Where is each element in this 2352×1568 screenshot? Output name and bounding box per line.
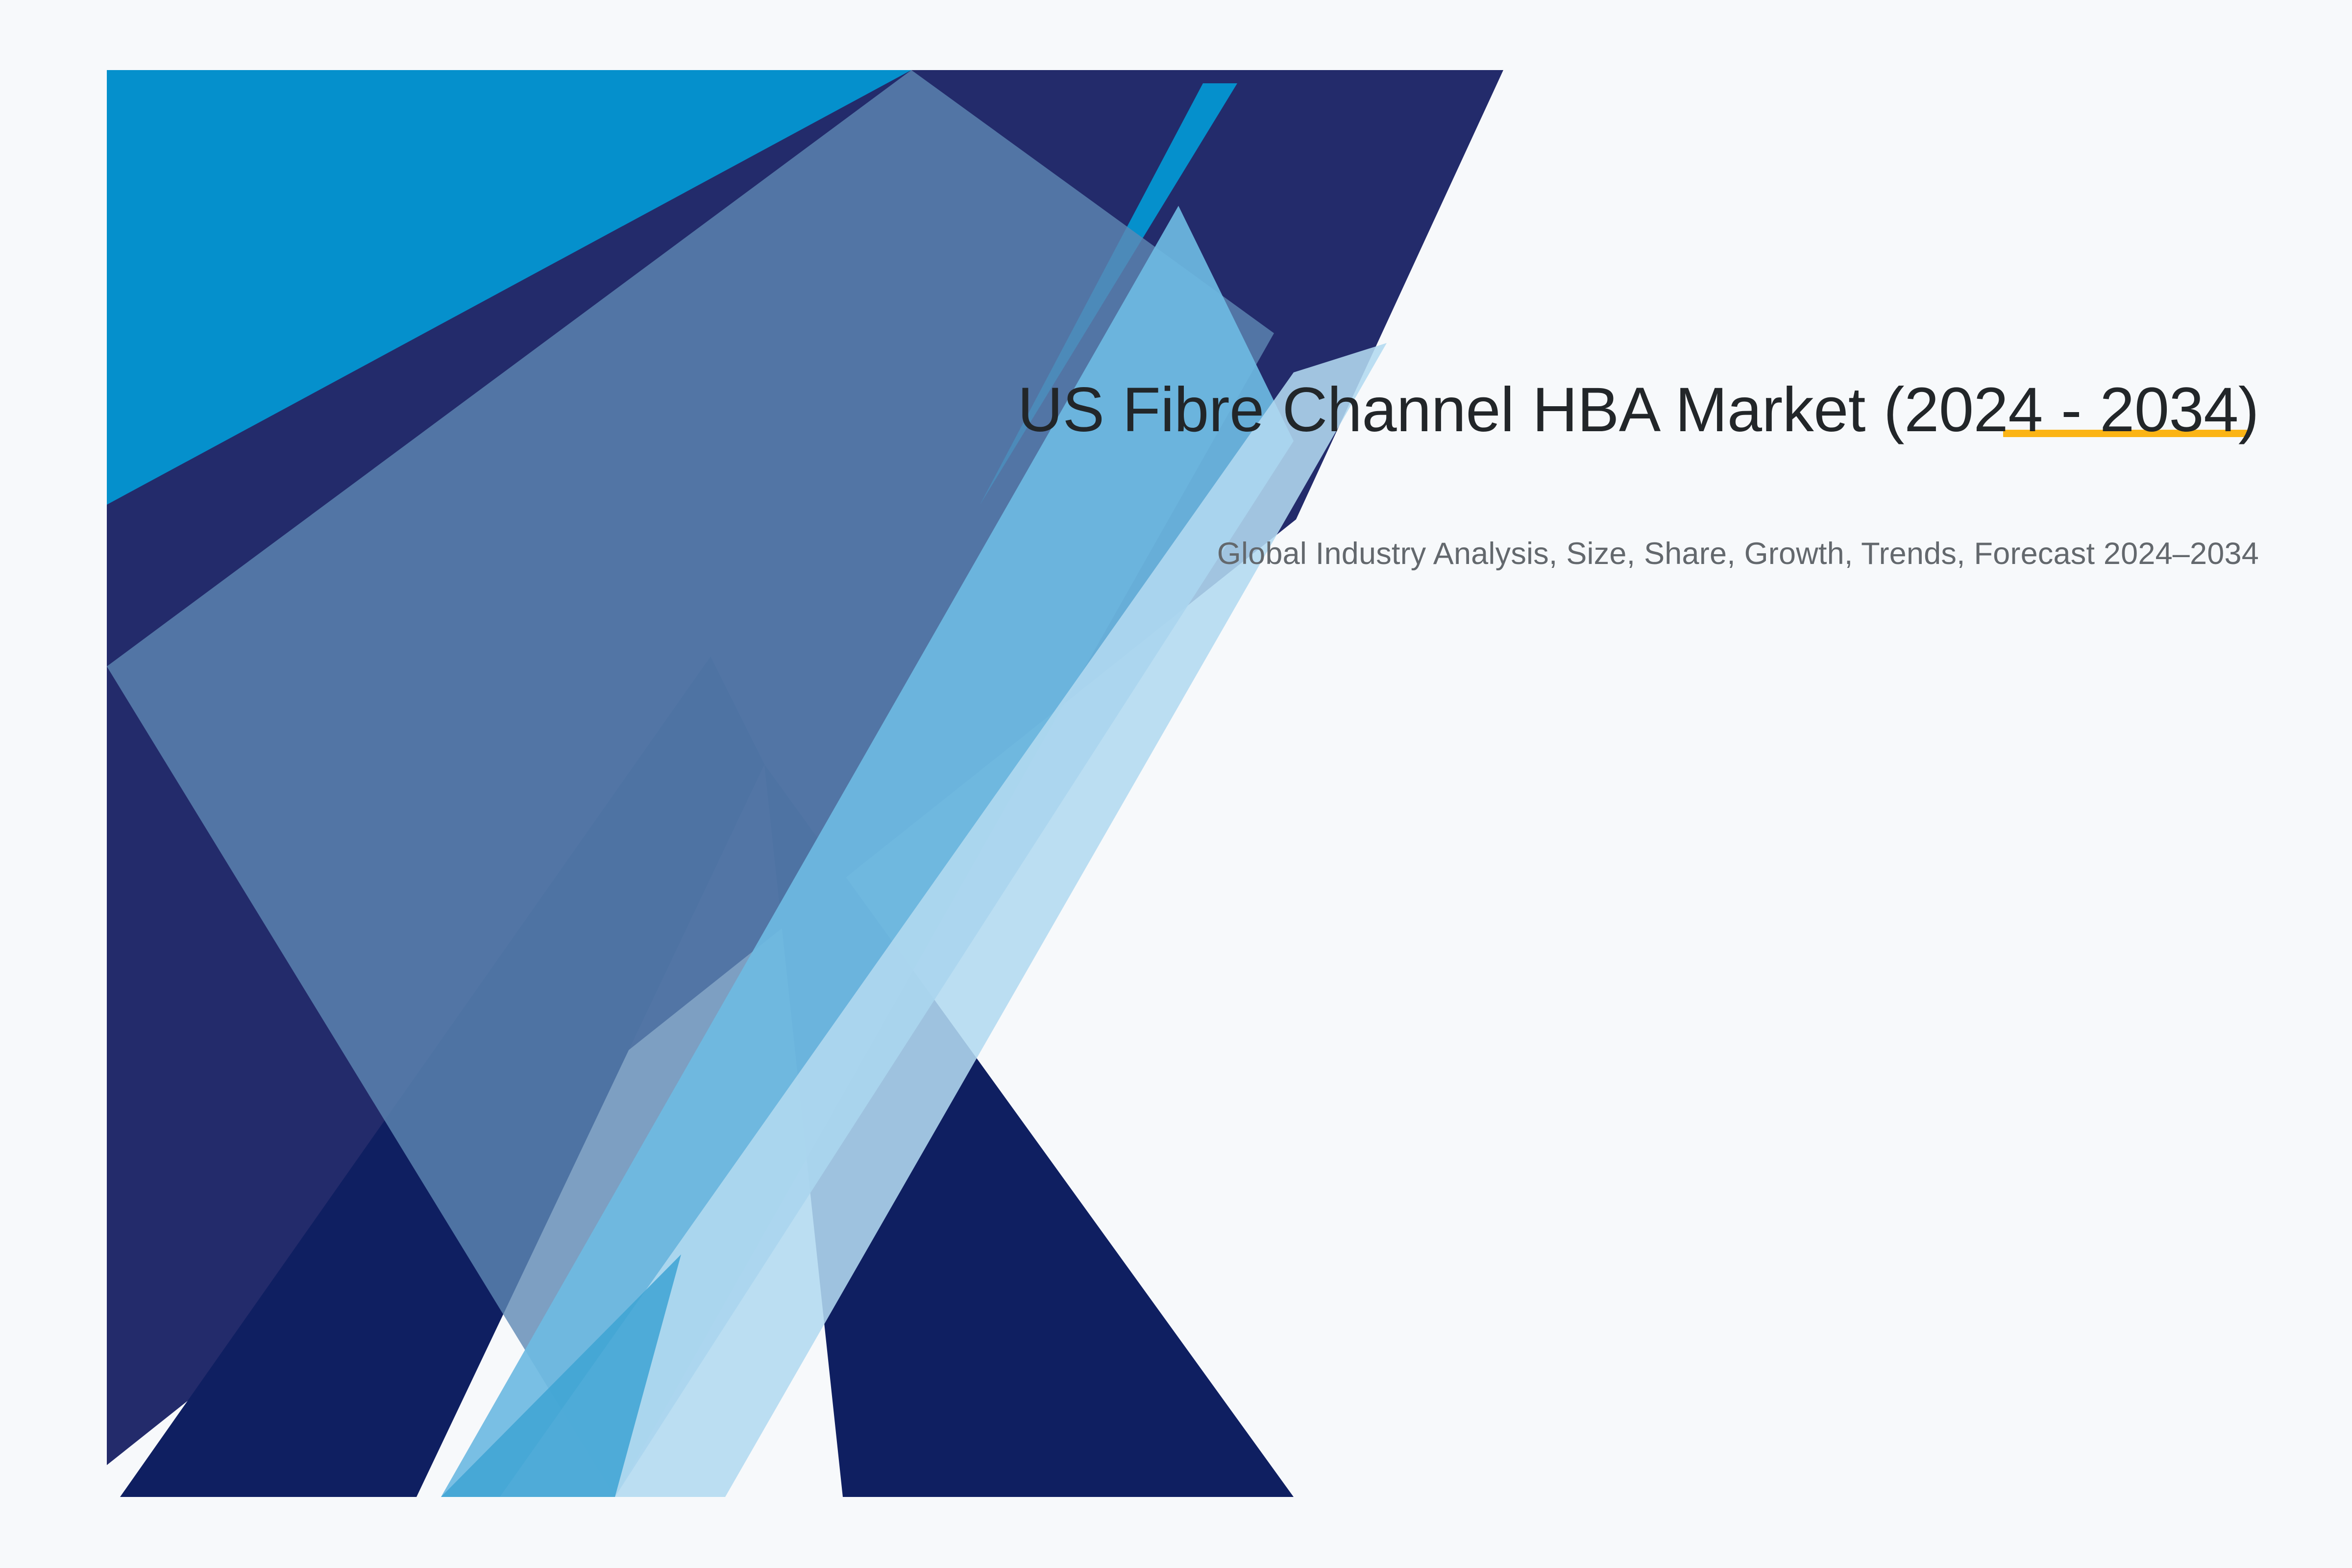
deep-navy-right-wedge xyxy=(764,764,1294,1497)
navy-upper-right-field xyxy=(107,70,1503,1465)
cover-text-block: US Fibre Channel HBA Market (2024 - 2034… xyxy=(735,372,2259,574)
slate-blue-panel xyxy=(107,70,1274,1497)
mid-blue-lower-sliver xyxy=(441,1254,681,1497)
deep-navy-wedge xyxy=(120,657,764,1497)
abstract-polygon-graphic xyxy=(0,0,2352,1568)
page-subtitle: Global Industry Analysis, Size, Share, G… xyxy=(735,534,2259,574)
report-cover: US Fibre Channel HBA Market (2024 - 2034… xyxy=(0,0,2352,1568)
page-title: US Fibre Channel HBA Market (2024 - 2034… xyxy=(735,372,2259,448)
title-wrap: US Fibre Channel HBA Market (2024 - 2034… xyxy=(735,372,2259,448)
